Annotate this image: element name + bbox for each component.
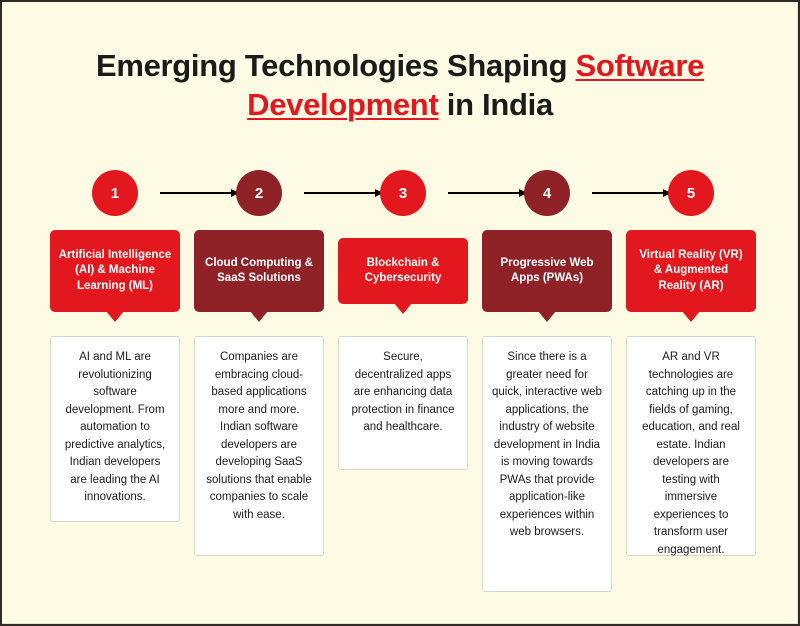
circle-band-4: 4: [482, 170, 612, 226]
step-description-text-4: Since there is a greater need for quick,…: [492, 351, 602, 538]
step-number-label-5: 5: [687, 185, 695, 202]
step-description-card-1: AI and ML are revolutionizing software d…: [50, 336, 180, 522]
step-description-text-3: Secure, decentralized apps are enhancing…: [352, 351, 455, 433]
circle-band-1: 1: [50, 170, 180, 226]
step-header-label-4: Progressive Web Apps (PWAs): [490, 256, 604, 287]
circle-band-5: 5: [626, 170, 756, 226]
step-column-1: 1 Artificial Intelligence (AI) & Machine…: [50, 170, 180, 226]
step-header-label-1: Artificial Intelligence (AI) & Machine L…: [58, 248, 172, 295]
step-column-5: 5 Virtual Reality (VR) & Augmented Reali…: [626, 170, 756, 226]
step-number-circle-2[interactable]: 2: [236, 170, 282, 216]
page-title: Emerging Technologies Shaping Software D…: [2, 46, 798, 124]
step-header-box-4[interactable]: Progressive Web Apps (PWAs): [482, 230, 612, 312]
step-header-label-2: Cloud Computing & SaaS Solutions: [202, 256, 316, 287]
circle-band-2: 2: [194, 170, 324, 226]
step-description-card-2: Companies are embracing cloud-based appl…: [194, 336, 324, 556]
title-plain-2: in India: [438, 87, 552, 122]
bubble-tail-2: [250, 311, 268, 322]
process-flow: 1 Artificial Intelligence (AI) & Machine…: [50, 170, 750, 590]
step-number-label-3: 3: [399, 185, 407, 202]
step-description-text-1: AI and ML are revolutionizing software d…: [65, 351, 165, 503]
title-line-2: Development in India: [57, 85, 743, 124]
step-column-3: 3 Blockchain & Cybersecurity Secure, dec…: [338, 170, 468, 226]
title-highlight-development: Development: [247, 87, 438, 122]
circle-band-3: 3: [338, 170, 468, 226]
bubble-tail-3: [394, 303, 412, 314]
step-description-card-3: Secure, decentralized apps are enhancing…: [338, 336, 468, 470]
step-number-circle-1[interactable]: 1: [92, 170, 138, 216]
title-plain-1: Emerging Technologies Shaping: [96, 48, 576, 83]
bubble-tail-1: [106, 311, 124, 322]
bubble-tail-4: [538, 311, 556, 322]
step-number-label-1: 1: [111, 185, 119, 202]
step-description-text-5: AR and VR technologies are catching up i…: [642, 351, 740, 556]
step-number-label-2: 2: [255, 185, 263, 202]
bubble-tail-5: [682, 311, 700, 322]
step-number-circle-4[interactable]: 4: [524, 170, 570, 216]
step-header-label-5: Virtual Reality (VR) & Augmented Reality…: [634, 248, 748, 295]
step-column-4: 4 Progressive Web Apps (PWAs) Since ther…: [482, 170, 612, 226]
step-description-card-4: Since there is a greater need for quick,…: [482, 336, 612, 592]
step-header-box-5[interactable]: Virtual Reality (VR) & Augmented Reality…: [626, 230, 756, 312]
step-number-circle-5[interactable]: 5: [668, 170, 714, 216]
step-header-box-2[interactable]: Cloud Computing & SaaS Solutions: [194, 230, 324, 312]
step-number-label-4: 4: [543, 185, 551, 202]
step-header-label-3: Blockchain & Cybersecurity: [346, 256, 460, 287]
step-description-text-2: Companies are embracing cloud-based appl…: [206, 351, 312, 521]
infographic-canvas: Emerging Technologies Shaping Software D…: [2, 2, 798, 624]
step-column-2: 2 Cloud Computing & SaaS Solutions Compa…: [194, 170, 324, 226]
step-header-box-3[interactable]: Blockchain & Cybersecurity: [338, 238, 468, 304]
title-highlight-software: Software: [576, 48, 705, 83]
step-number-circle-3[interactable]: 3: [380, 170, 426, 216]
title-line-1: Emerging Technologies Shaping Software: [57, 46, 743, 85]
step-description-card-5: AR and VR technologies are catching up i…: [626, 336, 756, 556]
step-header-box-1[interactable]: Artificial Intelligence (AI) & Machine L…: [50, 230, 180, 312]
